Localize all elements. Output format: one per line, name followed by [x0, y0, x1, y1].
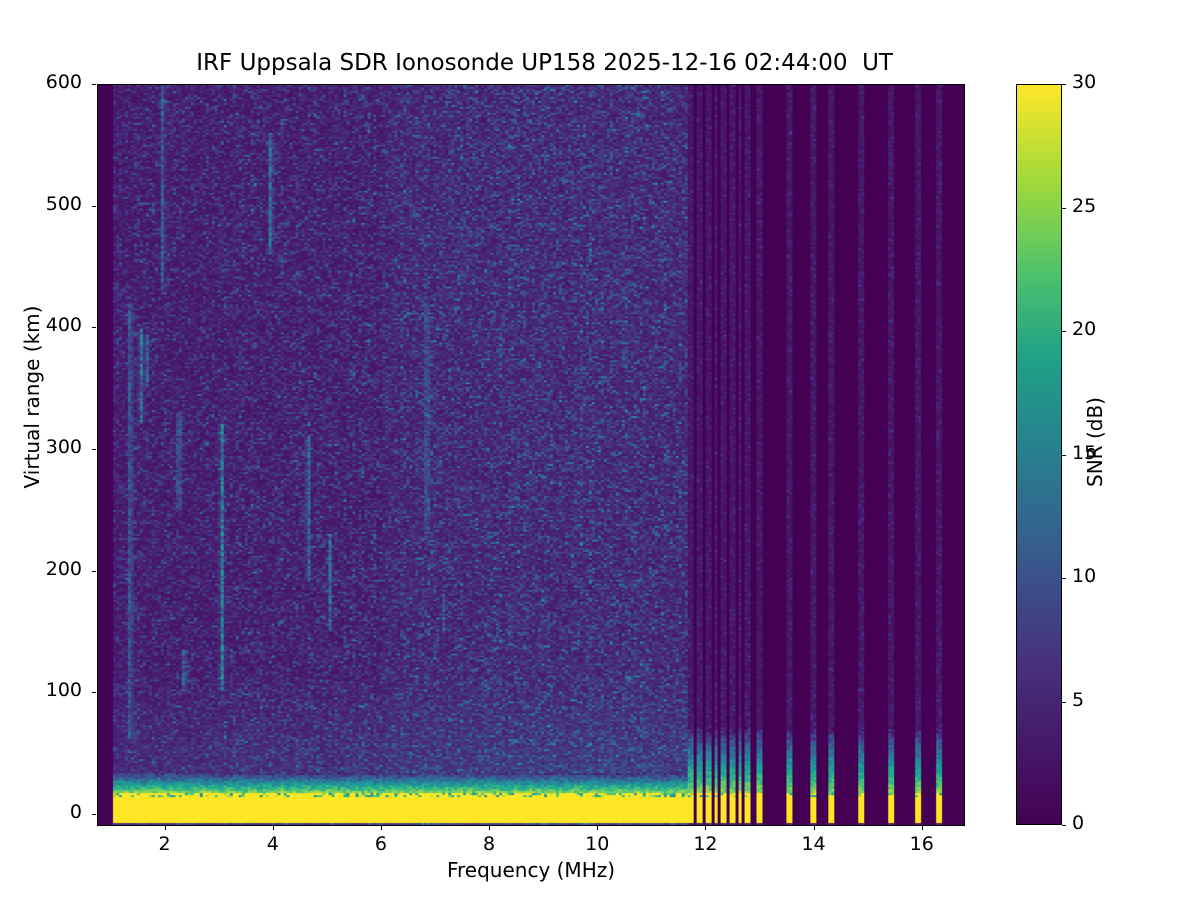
y-tick-mark	[92, 206, 96, 207]
y-tick-mark	[92, 84, 96, 85]
x-tick-label: 2	[135, 833, 195, 855]
colorbar-tick-label: 25	[1072, 195, 1096, 217]
ionogram-heatmap	[98, 85, 964, 825]
x-tick-label: 4	[243, 833, 303, 855]
x-tick-mark	[922, 826, 923, 830]
colorbar-tick-mark	[1062, 825, 1066, 826]
x-tick-mark	[597, 826, 598, 830]
colorbar-tick-mark	[1062, 455, 1066, 456]
x-tick-mark	[273, 826, 274, 830]
y-tick-label: 100	[12, 679, 82, 701]
colorbar-tick-mark	[1062, 84, 1066, 85]
x-tick-label: 12	[675, 833, 735, 855]
y-tick-mark	[92, 571, 96, 572]
x-tick-label: 16	[892, 833, 952, 855]
x-tick-label: 8	[459, 833, 519, 855]
colorbar-tick-label: 0	[1072, 812, 1084, 834]
x-tick-label: 14	[784, 833, 844, 855]
x-tick-mark	[705, 826, 706, 830]
x-axis-label: Frequency (MHz)	[97, 858, 965, 882]
y-tick-mark	[92, 692, 96, 693]
colorbar-tick-label: 5	[1072, 689, 1084, 711]
y-tick-mark	[92, 814, 96, 815]
x-tick-label: 10	[567, 833, 627, 855]
colorbar-tick-mark	[1062, 331, 1066, 332]
colorbar-label: SNR (dB)	[1083, 282, 1107, 602]
ionogram-axes[interactable]	[97, 84, 965, 826]
x-tick-mark	[489, 826, 490, 830]
y-tick-mark	[92, 327, 96, 328]
x-tick-mark	[165, 826, 166, 830]
colorbar-tick-mark	[1062, 578, 1066, 579]
y-tick-label: 500	[12, 193, 82, 215]
colorbar[interactable]	[1016, 84, 1062, 825]
y-tick-mark	[92, 449, 96, 450]
y-tick-label: 0	[12, 801, 82, 823]
y-axis-label: Virtual range (km)	[20, 217, 44, 577]
colorbar-tick-label: 30	[1072, 71, 1096, 93]
x-tick-mark	[381, 826, 382, 830]
colorbar-tick-mark	[1062, 208, 1066, 209]
ionogram-figure: IRF Uppsala SDR Ionosonde UP158 2025-12-…	[0, 0, 1200, 900]
x-tick-mark	[814, 826, 815, 830]
x-tick-label: 6	[351, 833, 411, 855]
colorbar-tick-mark	[1062, 702, 1066, 703]
title-line-1: IRF Uppsala SDR Ionosonde UP158 2025-12-…	[196, 50, 893, 76]
y-tick-label: 600	[12, 71, 82, 93]
